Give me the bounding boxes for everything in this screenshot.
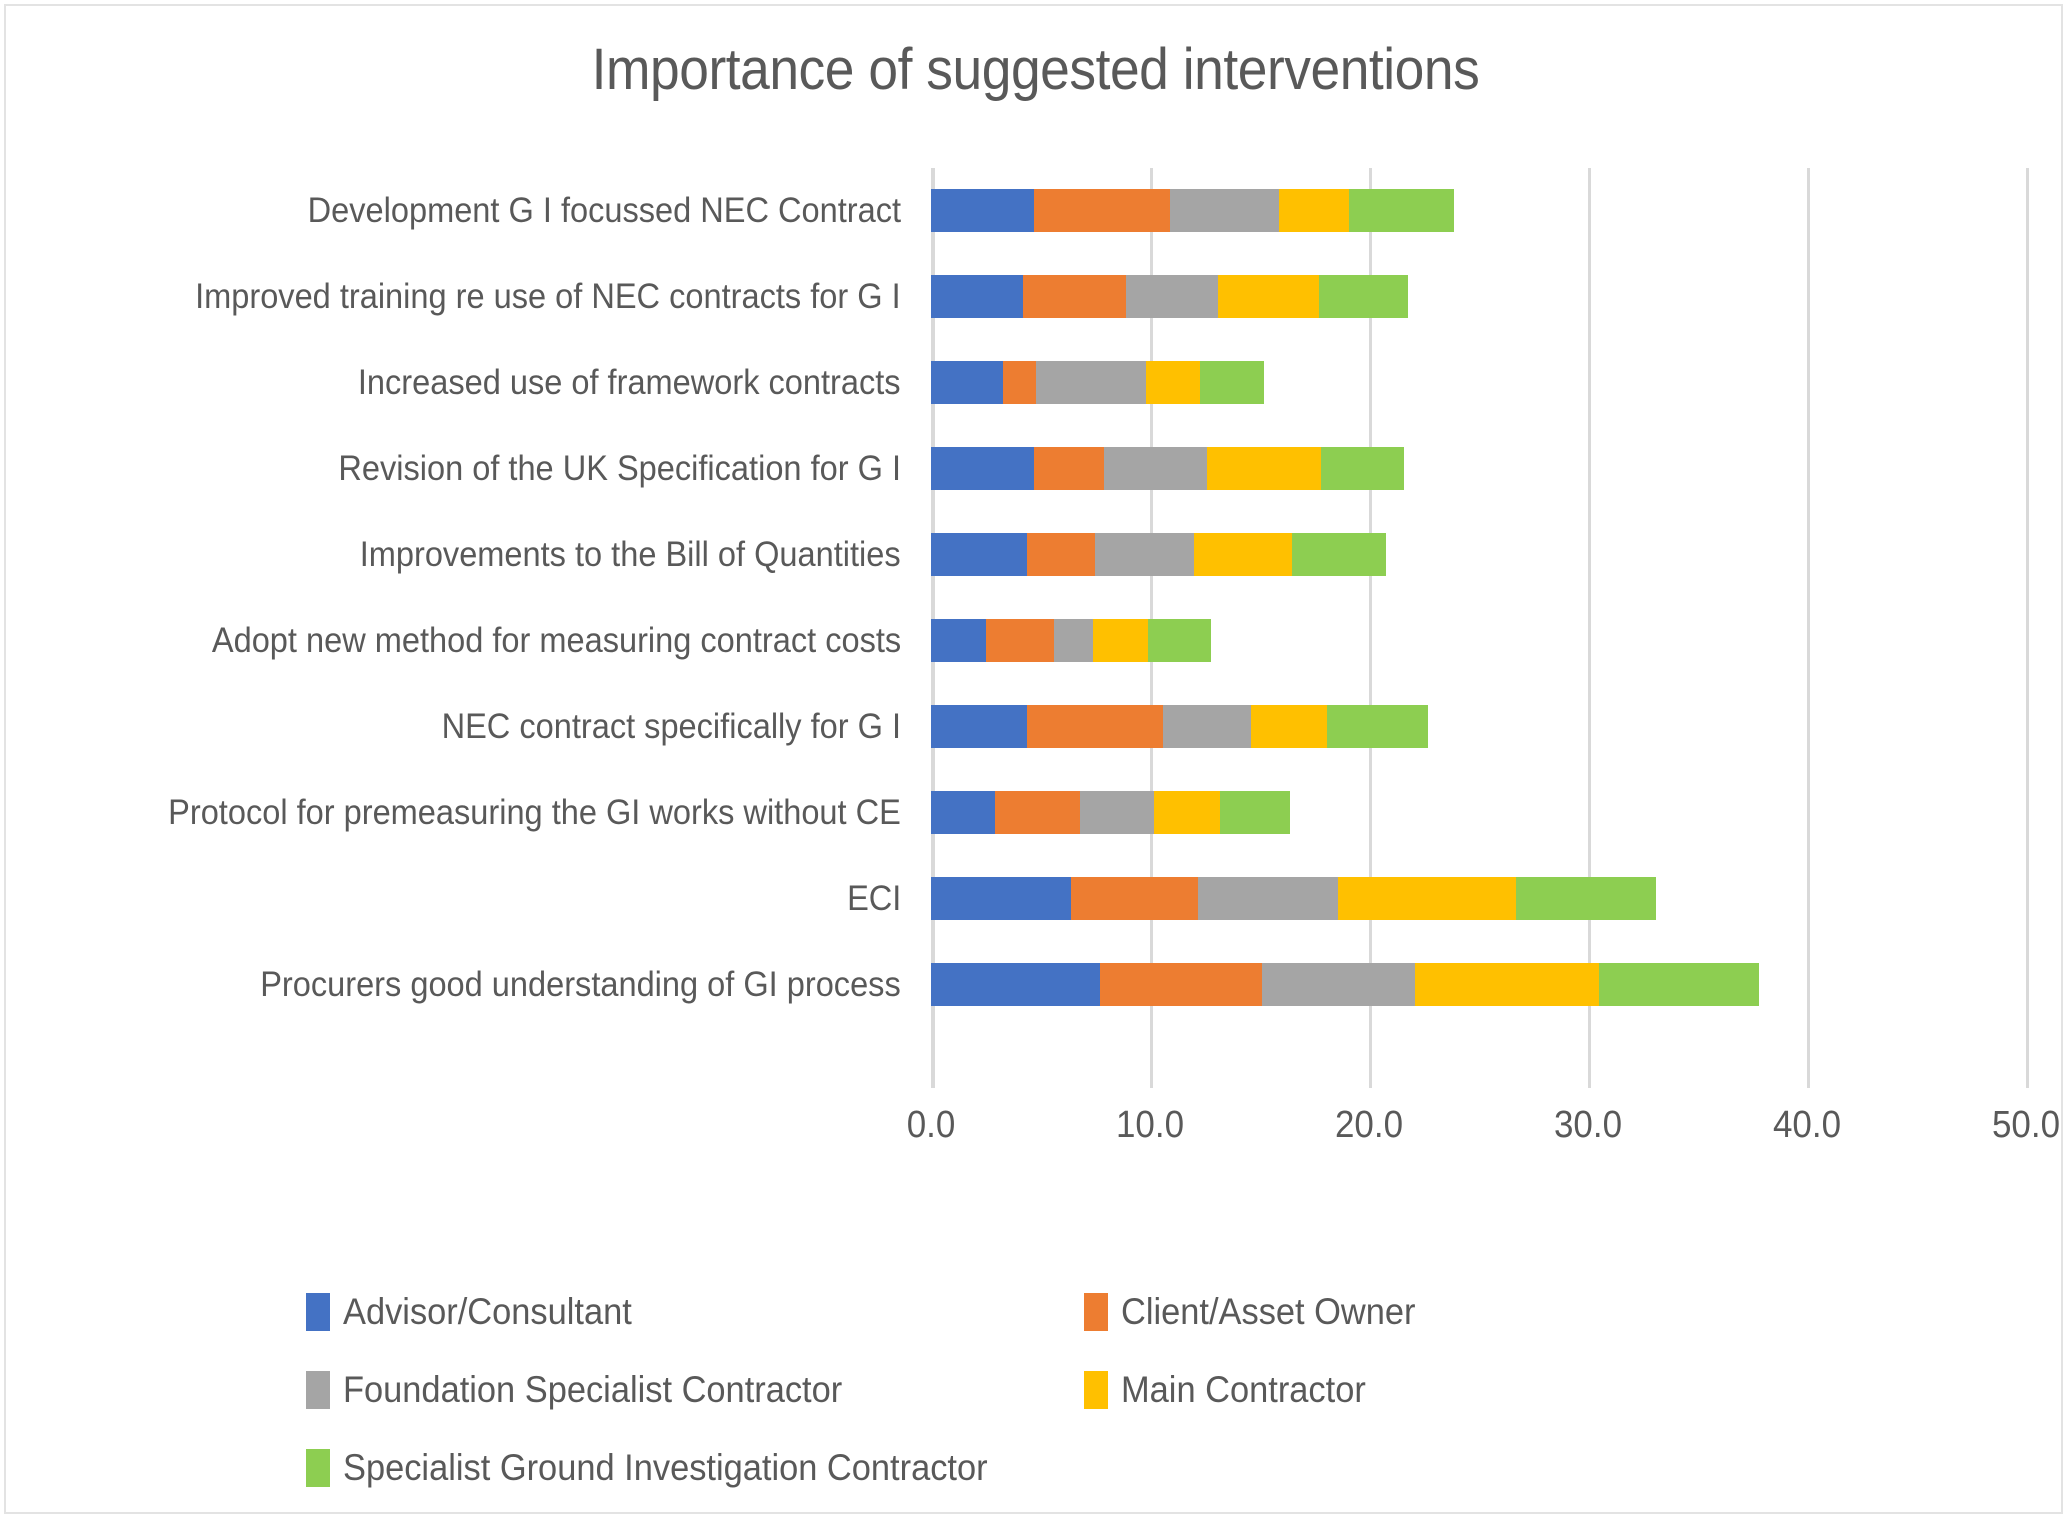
- legend-item[interactable]: Client/Asset Owner: [1084, 1284, 1438, 1340]
- bar-segment[interactable]: [1218, 275, 1319, 318]
- x-tick-label: 10.0: [1116, 1104, 1184, 1147]
- bar-segment[interactable]: [986, 619, 1054, 662]
- bar-segment[interactable]: [1027, 533, 1095, 576]
- bar-segment[interactable]: [1251, 705, 1328, 748]
- category-label-text: Procurers good understanding of GI proce…: [260, 965, 901, 1005]
- bar-segment[interactable]: [1095, 533, 1194, 576]
- bar-segment[interactable]: [1154, 791, 1220, 834]
- bar-segment[interactable]: [931, 275, 1023, 318]
- bar-segment[interactable]: [1034, 189, 1170, 232]
- bar-segment[interactable]: [1003, 361, 1036, 404]
- chart-canvas: Importance of suggested interventions De…: [4, 4, 2063, 1514]
- gridline: [1588, 168, 1591, 1088]
- bar-segment[interactable]: [1036, 361, 1146, 404]
- legend-row: Foundation Specialist ContractorMain Con…: [306, 1362, 1806, 1440]
- bar-segment[interactable]: [931, 361, 1003, 404]
- bar-segment[interactable]: [1100, 963, 1262, 1006]
- bar-segment[interactable]: [931, 447, 1034, 490]
- category-label-text: Development G I focussed NEC Contract: [308, 191, 901, 231]
- category-label: ECI: [6, 856, 901, 942]
- category-label: Increased use of framework contracts: [6, 340, 901, 426]
- plot-area: [931, 168, 2026, 1088]
- category-label: Procurers good understanding of GI proce…: [6, 942, 901, 1028]
- legend-label: Main Contractor: [1121, 1369, 1366, 1411]
- bar-segment[interactable]: [1104, 447, 1207, 490]
- legend-row: Specialist Ground Investigation Contract…: [306, 1440, 1806, 1518]
- legend-label: Client/Asset Owner: [1121, 1291, 1416, 1333]
- bar-segment[interactable]: [1126, 275, 1218, 318]
- category-label: Improvements to the Bill of Quantities: [6, 512, 901, 598]
- category-label: Revision of the UK Specification for G I: [6, 426, 901, 512]
- bar-segment[interactable]: [931, 189, 1034, 232]
- bar-segment[interactable]: [931, 791, 995, 834]
- legend-item[interactable]: Main Contractor: [1084, 1362, 1384, 1418]
- stacked-bar[interactable]: [931, 963, 1759, 1006]
- x-tick-label: 40.0: [1773, 1104, 1841, 1147]
- stacked-bar[interactable]: [931, 705, 1428, 748]
- bar-segment[interactable]: [1054, 619, 1093, 662]
- category-label-text: Adopt new method for measuring contract …: [212, 621, 901, 661]
- bar-segment[interactable]: [931, 877, 1071, 920]
- category-label-text: Increased use of framework contracts: [358, 363, 901, 403]
- bar-segment[interactable]: [1415, 963, 1599, 1006]
- bar-segment[interactable]: [1148, 619, 1212, 662]
- category-label: Development G I focussed NEC Contract: [6, 168, 901, 254]
- chart-title: Importance of suggested interventions: [88, 36, 1982, 103]
- bar-segment[interactable]: [931, 963, 1100, 1006]
- gridline: [2026, 168, 2029, 1088]
- stacked-bar[interactable]: [931, 275, 1408, 318]
- category-label: Adopt new method for measuring contract …: [6, 598, 901, 684]
- bar-segment[interactable]: [931, 533, 1027, 576]
- bar-segment[interactable]: [931, 619, 986, 662]
- bar-segment[interactable]: [1338, 877, 1515, 920]
- x-tick-label: 20.0: [1335, 1104, 1403, 1147]
- bar-segment[interactable]: [1220, 791, 1290, 834]
- category-label-text: ECI: [847, 879, 901, 919]
- category-label: Improved training re use of NEC contract…: [6, 254, 901, 340]
- category-label: NEC contract specifically for G I: [6, 684, 901, 770]
- legend-item[interactable]: Advisor/Consultant: [306, 1284, 654, 1340]
- category-label: Protocol for premeasuring the GI works w…: [6, 770, 901, 856]
- bar-segment[interactable]: [1163, 705, 1251, 748]
- x-tick-label: 0.0: [907, 1104, 956, 1147]
- legend-swatch: [306, 1371, 330, 1409]
- legend-row: Advisor/ConsultantClient/Asset Owner: [306, 1284, 1806, 1362]
- bar-segment[interactable]: [1599, 963, 1759, 1006]
- bar-segment[interactable]: [1279, 189, 1349, 232]
- bar-segment[interactable]: [1027, 705, 1163, 748]
- bar-segment[interactable]: [1146, 361, 1201, 404]
- bar-segment[interactable]: [1071, 877, 1198, 920]
- category-label-text: Protocol for premeasuring the GI works w…: [168, 793, 901, 833]
- stacked-bar[interactable]: [931, 619, 1211, 662]
- chart-legend: Advisor/ConsultantClient/Asset OwnerFoun…: [306, 1284, 1806, 1518]
- bar-segment[interactable]: [1198, 877, 1338, 920]
- category-label-text: Revision of the UK Specification for G I: [338, 449, 901, 489]
- legend-swatch: [306, 1293, 330, 1331]
- bar-segment[interactable]: [1023, 275, 1126, 318]
- bar-segment[interactable]: [1170, 189, 1280, 232]
- legend-label: Advisor/Consultant: [343, 1291, 632, 1333]
- bar-segment[interactable]: [931, 705, 1027, 748]
- x-tick-label: 50.0: [1992, 1104, 2060, 1147]
- legend-item[interactable]: Foundation Specialist Contractor: [306, 1362, 880, 1418]
- stacked-bar[interactable]: [931, 791, 1290, 834]
- x-axis-tick-labels: 0.010.020.030.040.050.0: [6, 1104, 2065, 1159]
- bar-segment[interactable]: [1319, 275, 1409, 318]
- bar-segment[interactable]: [995, 791, 1080, 834]
- legend-label: Specialist Ground Investigation Contract…: [343, 1447, 988, 1489]
- bar-segment[interactable]: [1516, 877, 1656, 920]
- stacked-bar[interactable]: [931, 447, 1404, 490]
- bar-segment[interactable]: [1093, 619, 1148, 662]
- stacked-bar[interactable]: [931, 533, 1386, 576]
- legend-swatch: [1084, 1293, 1108, 1331]
- bar-segment[interactable]: [1349, 189, 1454, 232]
- bar-segment[interactable]: [1034, 447, 1104, 490]
- legend-swatch: [306, 1449, 330, 1487]
- x-tick-label: 30.0: [1554, 1104, 1622, 1147]
- bar-segment[interactable]: [1200, 361, 1264, 404]
- category-label-text: Improvements to the Bill of Quantities: [360, 535, 901, 575]
- legend-item[interactable]: Specialist Ground Investigation Contract…: [306, 1440, 1036, 1496]
- stacked-bar[interactable]: [931, 877, 1656, 920]
- bar-segment[interactable]: [1262, 963, 1415, 1006]
- bar-segment[interactable]: [1321, 447, 1404, 490]
- bar-segment[interactable]: [1327, 705, 1428, 748]
- legend-swatch: [1084, 1371, 1108, 1409]
- bar-segment[interactable]: [1207, 447, 1321, 490]
- stacked-bar[interactable]: [931, 189, 1454, 232]
- category-label-text: Improved training re use of NEC contract…: [195, 277, 901, 317]
- bar-segment[interactable]: [1292, 533, 1386, 576]
- bar-segment[interactable]: [1194, 533, 1293, 576]
- stacked-bar[interactable]: [931, 361, 1264, 404]
- legend-label: Foundation Specialist Contractor: [343, 1369, 842, 1411]
- category-label-text: NEC contract specifically for G I: [442, 707, 901, 747]
- bar-segment[interactable]: [1080, 791, 1154, 834]
- gridline: [1807, 168, 1810, 1088]
